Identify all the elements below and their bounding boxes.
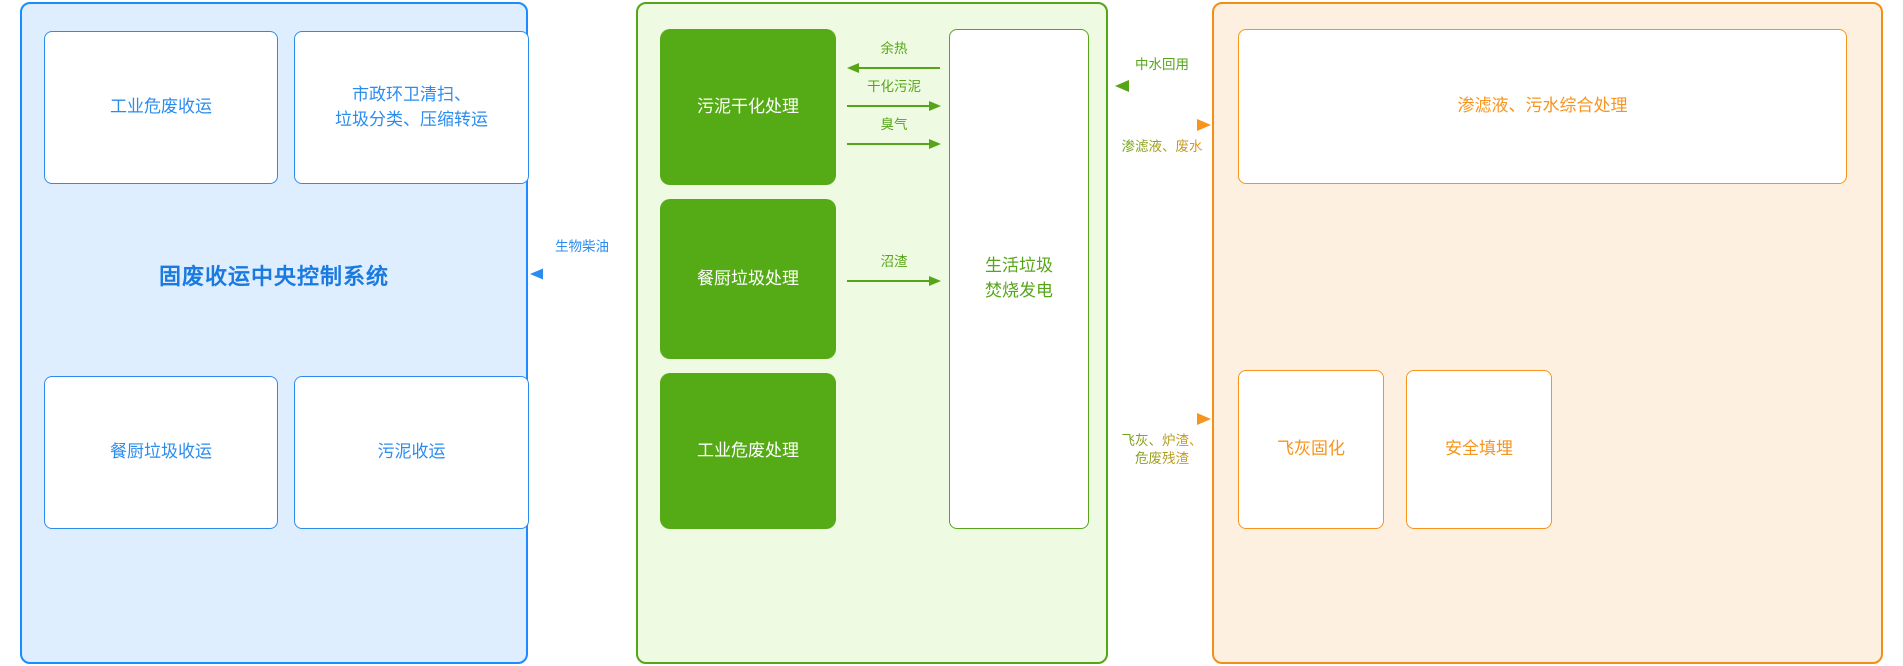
arrow-leachate-wastewater-icon	[1112, 116, 1212, 136]
card-label: 工业危废收运	[110, 95, 212, 120]
flow-label-biogas-residue: 沼渣	[846, 253, 942, 271]
flow-ash-slag-residue: 飞灰、炉渣、危废残渣	[1112, 410, 1212, 476]
card-kitchen-waste-treat[interactable]: 餐厨垃圾处理	[660, 199, 836, 359]
card-incineration[interactable]: 生活垃圾焚烧发电	[949, 29, 1089, 529]
card-sludge-collect[interactable]: 污泥收运	[294, 376, 529, 529]
flow-biodiesel: 生物柴油	[528, 238, 636, 286]
card-secure-landfill[interactable]: 安全填埋	[1406, 370, 1552, 529]
card-kitchen-waste-collect[interactable]: 餐厨垃圾收运	[44, 376, 278, 529]
flow-waste-heat: 余热	[846, 40, 942, 76]
flow-biogas-residue: 沼渣	[846, 253, 942, 289]
flow-label-dried-sludge: 干化污泥	[846, 78, 942, 96]
collection-panel-title: 固废收运中央控制系统	[22, 259, 526, 291]
flow-label-reclaimed-water: 中水回用	[1112, 56, 1212, 74]
flow-dried-sludge: 干化污泥	[846, 78, 942, 114]
card-industrial-haz-collect[interactable]: 工业危废收运	[44, 31, 278, 184]
flow-label-ash-slag-residue: 飞灰、炉渣、危废残渣	[1106, 432, 1218, 468]
arrow-biogas-residue-icon	[846, 273, 942, 291]
arrow-waste-heat-icon	[846, 60, 942, 78]
collection-panel: 工业危废收运 市政环卫清扫、垃圾分类、压缩转运 固废收运中央控制系统 餐厨垃圾收…	[20, 2, 528, 664]
arrow-reclaimed-water-icon	[1112, 77, 1212, 97]
arrow-odor-icon	[846, 136, 942, 154]
card-label: 安全填埋	[1445, 437, 1513, 462]
card-label: 飞灰固化	[1277, 437, 1345, 462]
card-sludge-drying[interactable]: 污泥干化处理	[660, 29, 836, 185]
card-label: 污泥干化处理	[697, 95, 799, 120]
card-label: 渗滤液、污水综合处理	[1458, 94, 1628, 119]
card-label: 市政环卫清扫、垃圾分类、压缩转运	[335, 83, 488, 132]
arrow-ash-slag-residue-icon	[1112, 410, 1212, 430]
card-label: 污泥收运	[378, 440, 446, 465]
flow-label-biodiesel: 生物柴油	[528, 238, 636, 256]
card-leachate-sewage[interactable]: 渗滤液、污水综合处理	[1238, 29, 1847, 184]
flow-label-odor: 臭气	[846, 116, 942, 134]
card-industrial-haz-treat[interactable]: 工业危废处理	[660, 373, 836, 529]
card-fly-ash-solidify[interactable]: 飞灰固化	[1238, 370, 1384, 529]
flow-leachate-wastewater: 渗滤液、废水	[1112, 116, 1212, 162]
flow-reclaimed-water: 中水回用	[1112, 56, 1212, 102]
disposal-panel: 渗滤液、污水综合处理 飞灰固化 安全填埋	[1212, 2, 1883, 664]
arrow-dried-sludge-icon	[846, 98, 942, 116]
flow-label-waste-heat: 余热	[846, 40, 942, 58]
arrow-biodiesel-icon	[528, 264, 636, 288]
card-label: 餐厨垃圾处理	[697, 267, 799, 292]
card-municipal-sanitation[interactable]: 市政环卫清扫、垃圾分类、压缩转运	[294, 31, 529, 184]
treatment-panel: 污泥干化处理 餐厨垃圾处理 工业危废处理 生活垃圾焚烧发电 余热 干化污泥 臭气…	[636, 2, 1108, 664]
flow-label-leachate-wastewater: 渗滤液、废水	[1106, 138, 1218, 156]
card-label: 生活垃圾焚烧发电	[985, 254, 1053, 303]
card-label: 餐厨垃圾收运	[110, 440, 212, 465]
card-label: 工业危废处理	[697, 439, 799, 464]
flow-odor: 臭气	[846, 116, 942, 152]
